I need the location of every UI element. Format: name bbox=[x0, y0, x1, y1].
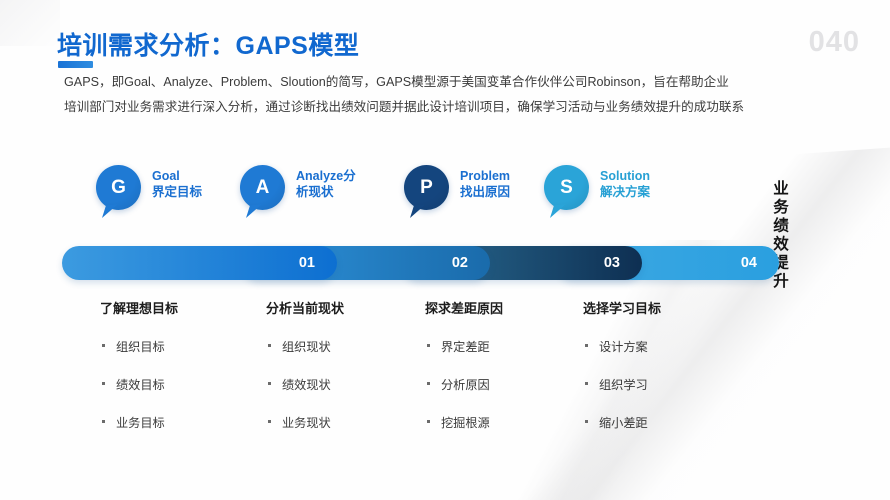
gaps-badge-g[interactable]: GGoal界定目标 bbox=[96, 165, 202, 210]
column-bullet-list: 组织现状绩效现状业务现状 bbox=[266, 337, 344, 431]
list-item: 界定差距 bbox=[425, 337, 503, 355]
list-item: 缩小差距 bbox=[583, 413, 661, 431]
badge-bubble-a: A bbox=[240, 165, 285, 210]
background-corner-shade bbox=[0, 0, 60, 46]
detail-column-2: 分析当前现状组织现状绩效现状业务现状 bbox=[266, 298, 344, 431]
badge-text-block: Analyze分析现状 bbox=[296, 165, 356, 200]
progress-step-number: 01 bbox=[299, 255, 315, 271]
gaps-badge-row: GGoal界定目标AAnalyze分析现状PProblem找出原因SSoluti… bbox=[0, 165, 890, 235]
badge-letter: P bbox=[420, 177, 433, 199]
detail-column-1: 了解理想目标组织目标绩效目标业务目标 bbox=[100, 298, 178, 431]
column-title: 探求差距原因 bbox=[425, 298, 503, 317]
list-item: 组织目标 bbox=[100, 337, 178, 355]
badge-bubble-s: S bbox=[544, 165, 589, 210]
gaps-badge-a[interactable]: AAnalyze分析现状 bbox=[240, 165, 356, 210]
page-number: 040 bbox=[809, 26, 860, 59]
slide-canvas: 040 培训需求分析：GAPS模型 GAPS，即Goal、Analyze、Pro… bbox=[0, 0, 890, 500]
title-underline-accent bbox=[58, 61, 93, 68]
badge-bubble-tail bbox=[410, 204, 426, 218]
gaps-badge-s[interactable]: SSolution解决方案 bbox=[544, 165, 650, 210]
progress-step-number: 04 bbox=[741, 255, 757, 271]
column-title: 选择学习目标 bbox=[583, 298, 661, 317]
list-item: 设计方案 bbox=[583, 337, 661, 355]
badge-bubble-p: P bbox=[404, 165, 449, 210]
progress-step-number: 03 bbox=[604, 255, 620, 271]
list-item: 绩效现状 bbox=[266, 375, 344, 393]
badge-bubble-tail bbox=[246, 204, 262, 218]
column-bullet-list: 设计方案组织学习缩小差距 bbox=[583, 337, 661, 431]
detail-column-4: 选择学习目标设计方案组织学习缩小差距 bbox=[583, 298, 661, 431]
badge-bubble-tail bbox=[102, 204, 118, 218]
progress-step-number: 02 bbox=[452, 255, 468, 271]
intro-line-2: 培训部门对业务需求进行深入分析，通过诊断找出绩效问题并据此设计培训项目，确保学习… bbox=[64, 95, 854, 120]
badge-label-en: Analyze分 bbox=[296, 169, 356, 184]
badge-text-block: Goal界定目标 bbox=[152, 165, 202, 200]
column-bullet-list: 组织目标绩效目标业务目标 bbox=[100, 337, 178, 431]
list-item: 组织学习 bbox=[583, 375, 661, 393]
column-bullet-list: 界定差距分析原因挖掘根源 bbox=[425, 337, 503, 431]
column-title: 了解理想目标 bbox=[100, 298, 178, 317]
badge-letter: S bbox=[560, 177, 573, 199]
gaps-badge-p[interactable]: PProblem找出原因 bbox=[404, 165, 510, 210]
list-item: 挖掘根源 bbox=[425, 413, 503, 431]
progress-step-bar: 04030201 bbox=[62, 246, 762, 280]
page-title: 培训需求分析：GAPS模型 bbox=[57, 26, 359, 62]
progress-step-01[interactable]: 01 bbox=[62, 246, 337, 280]
detail-column-3: 探求差距原因界定差距分析原因挖掘根源 bbox=[425, 298, 503, 431]
badge-label-en: Problem bbox=[460, 169, 510, 184]
badge-label-cn: 界定目标 bbox=[152, 184, 202, 200]
badge-label-en: Goal bbox=[152, 169, 202, 184]
column-title: 分析当前现状 bbox=[266, 298, 344, 317]
badge-label-en: Solution bbox=[600, 169, 650, 184]
list-item: 分析原因 bbox=[425, 375, 503, 393]
list-item: 业务现状 bbox=[266, 413, 344, 431]
badge-label-cn: 解决方案 bbox=[600, 184, 650, 200]
badge-bubble-g: G bbox=[96, 165, 141, 210]
list-item: 业务目标 bbox=[100, 413, 178, 431]
list-item: 组织现状 bbox=[266, 337, 344, 355]
badge-text-block: Problem找出原因 bbox=[460, 165, 510, 200]
list-item: 绩效目标 bbox=[100, 375, 178, 393]
badge-label-cn: 析现状 bbox=[296, 184, 356, 200]
intro-line-1: GAPS，即Goal、Analyze、Problem、Sloution的简写，G… bbox=[64, 70, 854, 95]
badge-label-cn: 找出原因 bbox=[460, 184, 510, 200]
badge-letter: A bbox=[256, 177, 270, 199]
badge-letter: G bbox=[111, 177, 126, 199]
badge-text-block: Solution解决方案 bbox=[600, 165, 650, 200]
intro-paragraph: GAPS，即Goal、Analyze、Problem、Sloution的简写，G… bbox=[64, 70, 854, 120]
badge-bubble-tail bbox=[550, 204, 566, 218]
